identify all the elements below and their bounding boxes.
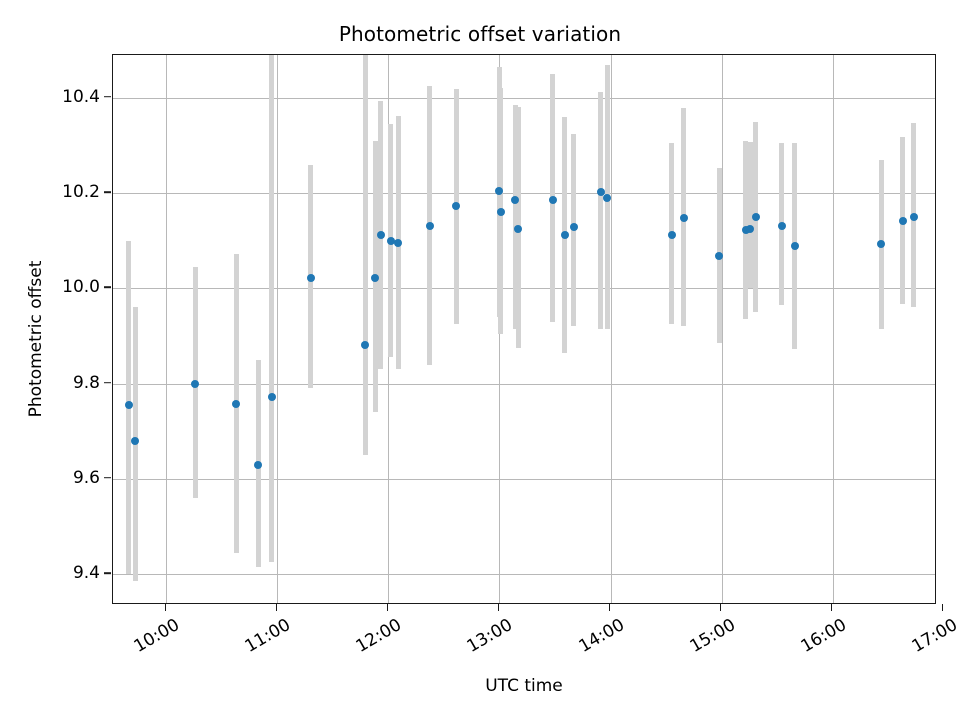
data-point — [778, 222, 786, 230]
data-point — [361, 341, 369, 349]
data-point — [910, 213, 918, 221]
data-point — [877, 240, 885, 248]
x-tick-label: 13:00 — [464, 615, 516, 657]
gridline-x-1000 — [166, 55, 167, 603]
y-tick-label: 9.8 — [10, 373, 100, 393]
data-point — [899, 217, 907, 225]
gridline-y-9.4 — [113, 574, 935, 575]
data-point — [549, 196, 557, 204]
page-title: Photometric offset variation — [0, 22, 960, 46]
x-tick-mark — [276, 604, 278, 611]
data-point — [131, 437, 139, 445]
data-point — [377, 231, 385, 239]
data-point — [232, 400, 240, 408]
y-tick-label: 10.2 — [10, 182, 100, 202]
x-tick-label: 15:00 — [686, 615, 738, 657]
gridline-x-1600 — [833, 55, 834, 603]
x-axis-label: UTC time — [112, 676, 936, 696]
x-tick-label: 14:00 — [575, 615, 627, 657]
y-tick-mark — [104, 191, 111, 193]
data-point — [603, 194, 611, 202]
data-point — [125, 401, 133, 409]
data-point — [561, 231, 569, 239]
y-tick-label: 10.4 — [10, 87, 100, 107]
data-point — [191, 380, 199, 388]
gridline-y-10.4 — [113, 98, 935, 99]
data-point — [452, 202, 460, 210]
data-point — [791, 242, 799, 250]
y-tick-label: 9.6 — [10, 468, 100, 488]
errorbar — [269, 54, 274, 562]
data-point — [680, 214, 688, 222]
errorbar — [363, 54, 368, 455]
y-tick-mark — [104, 572, 111, 574]
errorbar — [598, 92, 603, 329]
y-tick-mark — [104, 382, 111, 384]
data-point — [497, 208, 505, 216]
plot-area — [112, 54, 936, 604]
x-tick-label: 11:00 — [242, 615, 294, 657]
x-tick-label: 17:00 — [908, 615, 960, 657]
data-point — [254, 461, 262, 469]
x-tick-mark — [498, 604, 500, 611]
data-point — [426, 222, 434, 230]
gridline-x-1100 — [277, 55, 278, 603]
y-tick-mark — [104, 96, 111, 98]
data-point — [514, 225, 522, 233]
data-point — [668, 231, 676, 239]
data-point — [394, 239, 402, 247]
x-tick-label: 12:00 — [353, 615, 405, 657]
gridline-y-10.2 — [113, 193, 935, 194]
y-tick-mark — [104, 287, 111, 289]
y-tick-mark — [104, 477, 111, 479]
chart-figure: Photometric offset variation 9.49.69.810… — [0, 0, 960, 720]
x-tick-mark — [831, 604, 833, 611]
gridline-x-1400 — [611, 55, 612, 603]
x-tick-mark — [165, 604, 167, 611]
x-tick-label: 10:00 — [131, 615, 183, 657]
data-point — [570, 223, 578, 231]
y-axis-ticks: 9.49.69.810.010.210.4 — [0, 54, 100, 604]
x-axis-ticks: 10:0011:0012:0013:0014:0015:0016:0017:00 — [112, 604, 936, 714]
x-tick-mark — [942, 604, 944, 611]
data-point — [268, 393, 276, 401]
x-tick-mark — [387, 604, 389, 611]
y-tick-label: 9.4 — [10, 563, 100, 583]
y-axis-label: Photometric offset — [26, 64, 46, 614]
x-tick-mark — [720, 604, 722, 611]
x-tick-mark — [609, 604, 611, 611]
data-point — [371, 274, 379, 282]
x-tick-label: 16:00 — [797, 615, 849, 657]
data-point — [752, 213, 760, 221]
data-point — [307, 274, 315, 282]
y-tick-label: 10.0 — [10, 277, 100, 297]
